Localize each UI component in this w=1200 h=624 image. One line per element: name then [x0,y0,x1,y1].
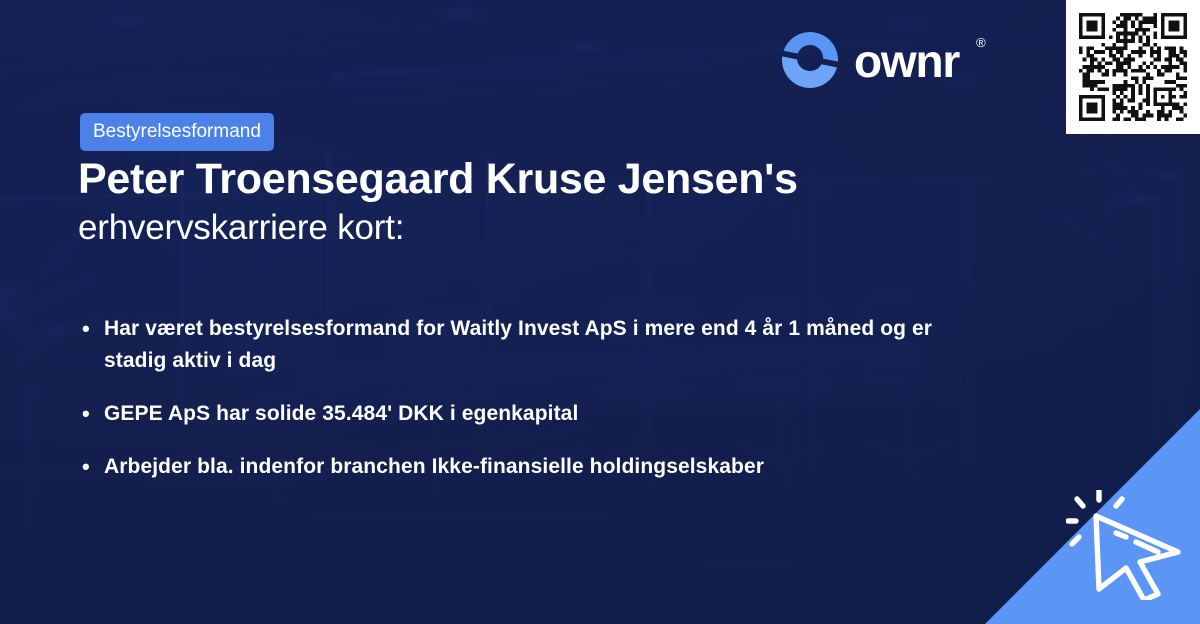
office-background-image [0,0,1200,624]
qr-code-image [1079,13,1187,121]
promo-card: ownr ® Bestyrelsesformand Peter Troenseg… [0,0,1200,624]
blue-color-overlay-2 [0,0,1200,624]
ownr-wordmark: ownr [854,38,959,84]
ownr-logo[interactable]: ownr ® [780,30,983,90]
list-item: GEPE ApS har solide 35.484' DKK i egenka… [82,398,982,430]
role-badge: Bestyrelsesformand [80,113,274,151]
highlights-list: Har været bestyrelsesformand for Waitly … [82,313,982,504]
list-item: Har været bestyrelsesformand for Waitly … [82,313,982,377]
cursor-click-icon [1066,490,1184,600]
ownr-circle-logo-icon [780,30,840,90]
page-title: Peter Troensegaard Kruse Jensen's [78,155,1078,203]
qr-code[interactable] [1066,0,1200,134]
list-item: Arbejder bla. indenfor branchen Ikke-fin… [82,451,982,483]
page-subtitle: erhvervskarriere kort: [78,208,978,248]
registered-trademark-icon: ® [976,35,986,50]
